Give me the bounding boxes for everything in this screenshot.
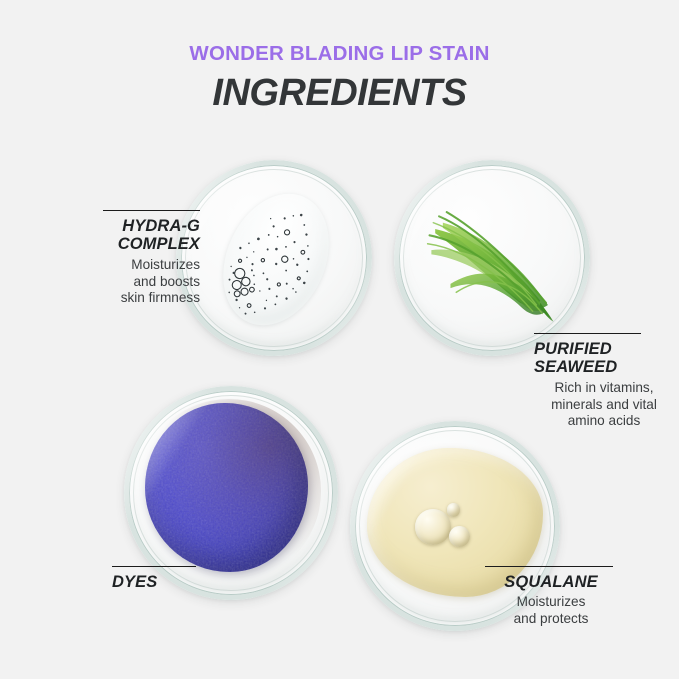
ingredient-name-line-1: HYDRA-G (18, 217, 200, 235)
dish-glass-rim (176, 160, 372, 356)
ingredient-description-hydra-g-complex: Moisturizes and boosts skin firmness (18, 257, 200, 307)
leader-line-dyes (112, 566, 196, 567)
ingredient-name-hydra-g-complex: HYDRA-G COMPLEX (18, 217, 200, 254)
brand-title: WONDER BLADING LIP STAIN (0, 42, 679, 66)
petri-dish-seaweed (394, 160, 590, 356)
petri-dish-clear-gel (176, 160, 372, 356)
dish-glass-rim (394, 160, 590, 356)
description-line-2: minerals and vital (534, 397, 674, 414)
description-line-3: skin firmness (18, 290, 200, 307)
callout-dyes: DYES (112, 566, 232, 591)
leader-line-purified-seaweed (534, 333, 641, 334)
page-title: INGREDIENTS (0, 72, 679, 115)
description-line-1: Rich in vitamins, (534, 380, 674, 397)
callout-hydra-g-complex: HYDRA-G COMPLEX Moisturizes and boosts s… (18, 210, 200, 307)
callout-purified-seaweed: PURIFIED SEAWEED Rich in vitamins, miner… (534, 333, 674, 430)
ingredient-name-line-1: PURIFIED (534, 340, 674, 358)
description-line-1: Moisturizes (18, 257, 200, 274)
description-line-2: and boosts (18, 274, 200, 291)
ingredient-name-squalane: SQUALANE (485, 573, 617, 591)
description-line-3: amino acids (534, 413, 674, 430)
ingredient-name-line-2: SEAWEED (534, 358, 674, 376)
leader-line-squalane (485, 566, 613, 567)
ingredient-name-purified-seaweed: PURIFIED SEAWEED (534, 340, 674, 377)
ingredient-name-line-2: COMPLEX (18, 235, 200, 253)
description-line-1: Moisturizes (485, 594, 617, 611)
ingredient-description-squalane: Moisturizes and protects (485, 594, 617, 627)
ingredient-name-line-1: SQUALANE (485, 573, 617, 591)
ingredient-name-dyes: DYES (112, 573, 232, 591)
ingredient-name-line-1: DYES (112, 573, 232, 591)
description-line-2: and protects (485, 611, 617, 628)
leader-line-hydra-g-complex (103, 210, 200, 211)
callout-squalane: SQUALANE Moisturizes and protects (485, 566, 617, 628)
ingredients-infographic: WONDER BLADING LIP STAIN INGREDIENTS (0, 0, 679, 679)
ingredient-description-purified-seaweed: Rich in vitamins, minerals and vital ami… (534, 380, 674, 430)
